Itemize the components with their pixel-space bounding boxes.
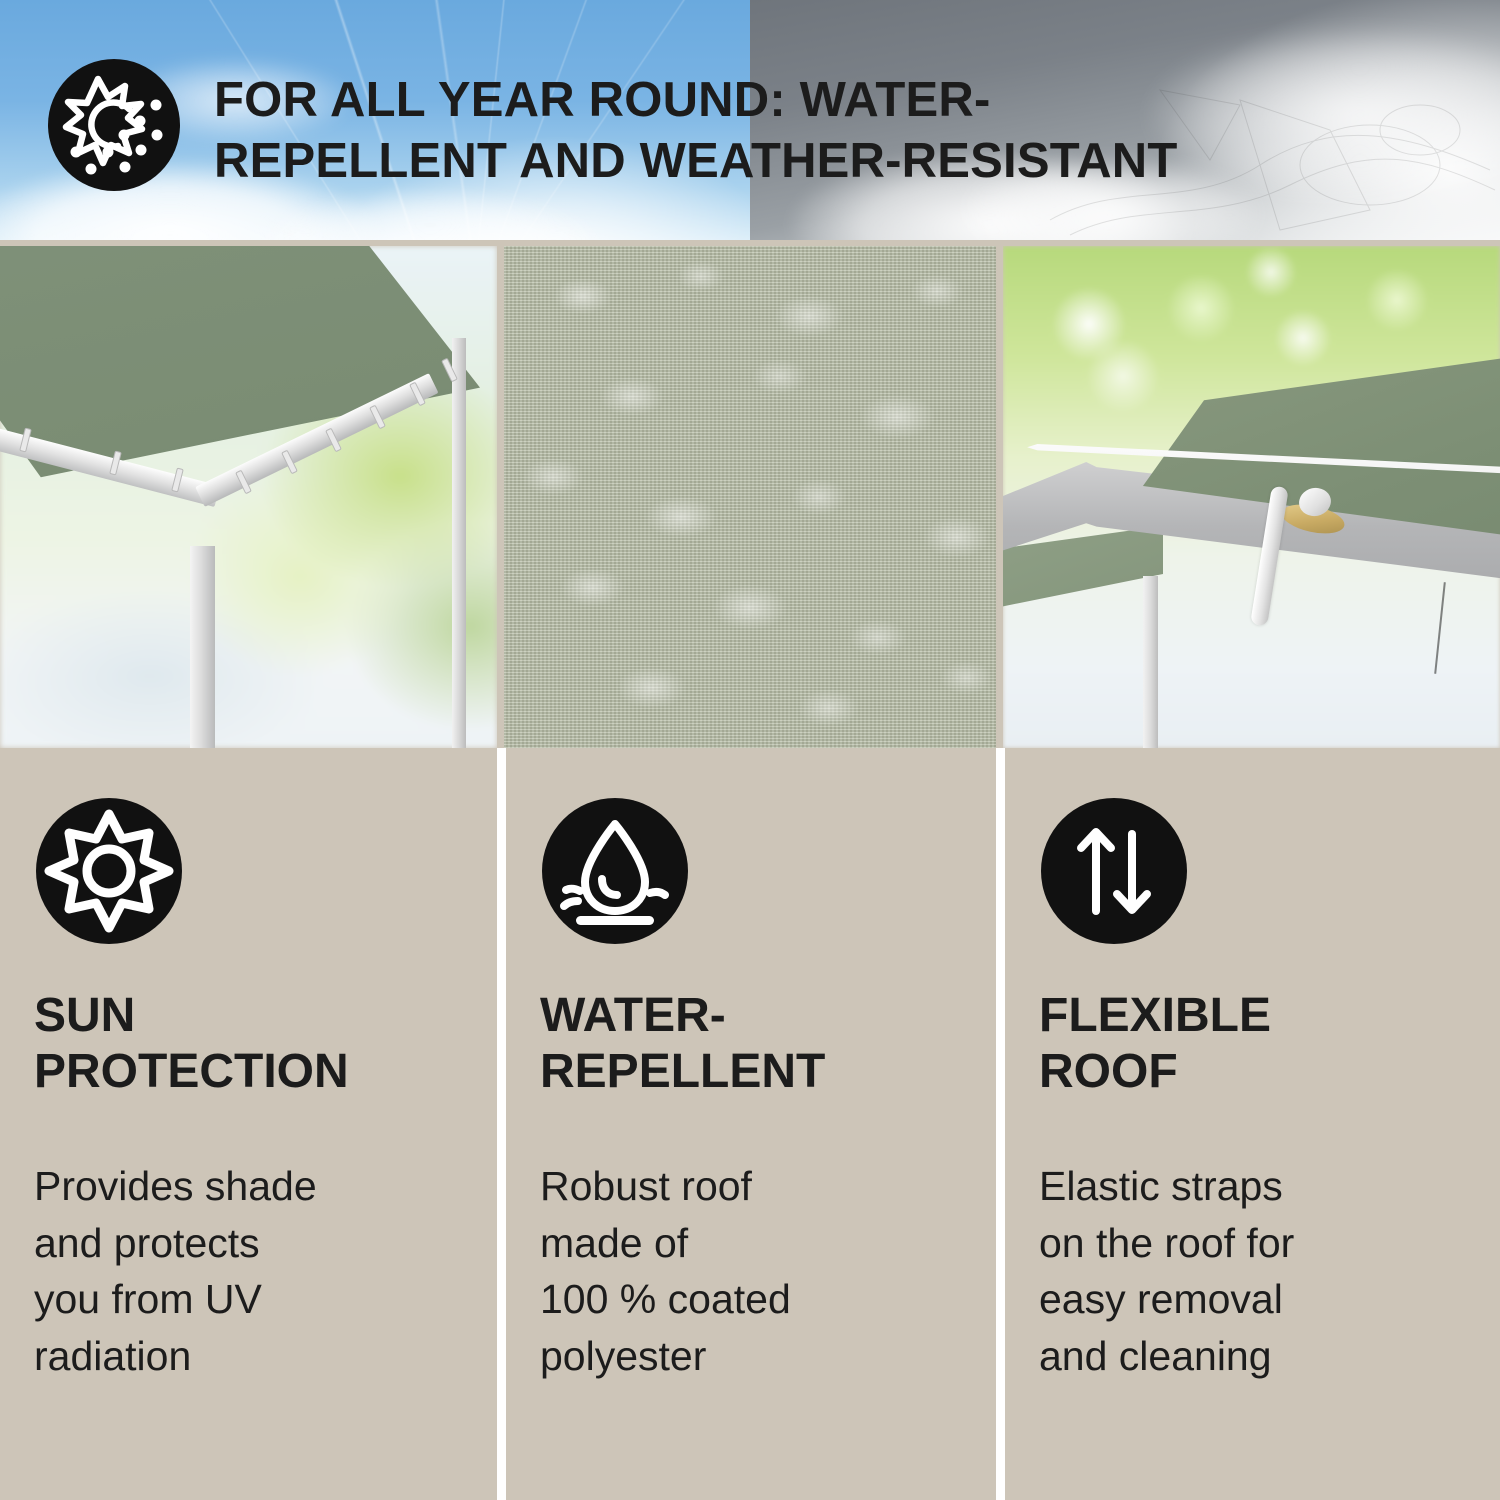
fabric-mottle-overlay xyxy=(504,246,996,748)
water-drop-repel-icon xyxy=(540,796,690,946)
page-title: FOR ALL YEAR ROUND: WATER- REPELLENT AND… xyxy=(214,70,1464,192)
frame-post xyxy=(190,546,215,748)
frame-post xyxy=(1143,576,1158,748)
feature-body: Provides shade and protects you from UV … xyxy=(34,1158,454,1384)
frame-post xyxy=(452,338,466,748)
header-banner: FOR ALL YEAR ROUND: WATER- REPELLENT AND… xyxy=(0,0,1500,240)
feature-body: Elastic straps on the roof for easy remo… xyxy=(1039,1158,1459,1384)
feature-column-water-repellent: WATER- REPELLENT Robust roof made of 100… xyxy=(506,748,996,1500)
photo-elastic-strap-detail xyxy=(1003,246,1500,748)
feature-title: FLEXIBLE ROOF xyxy=(1039,988,1469,1099)
feature-title: WATER- REPELLENT xyxy=(540,988,970,1099)
photo-fabric-macro xyxy=(504,246,996,748)
feature-columns: SUN PROTECTION Provides shade and protec… xyxy=(0,748,1500,1500)
sun-moon-snow-icon xyxy=(46,57,182,193)
up-down-arrows-icon xyxy=(1039,796,1189,946)
column-divider xyxy=(497,748,506,1500)
sun-icon xyxy=(34,796,184,946)
product-photo-row xyxy=(0,246,1500,748)
feature-title: SUN PROTECTION xyxy=(34,988,464,1099)
infographic-page: FOR ALL YEAR ROUND: WATER- REPELLENT AND… xyxy=(0,0,1500,1500)
feature-column-flexible-roof: FLEXIBLE ROOF Elastic straps on the roof… xyxy=(1005,748,1500,1500)
feature-column-sun-protection: SUN PROTECTION Provides shade and protec… xyxy=(0,748,497,1500)
column-divider xyxy=(996,748,1005,1500)
photo-pergola-canopy xyxy=(0,246,497,748)
feature-body: Robust roof made of 100 % coated polyest… xyxy=(540,1158,960,1384)
